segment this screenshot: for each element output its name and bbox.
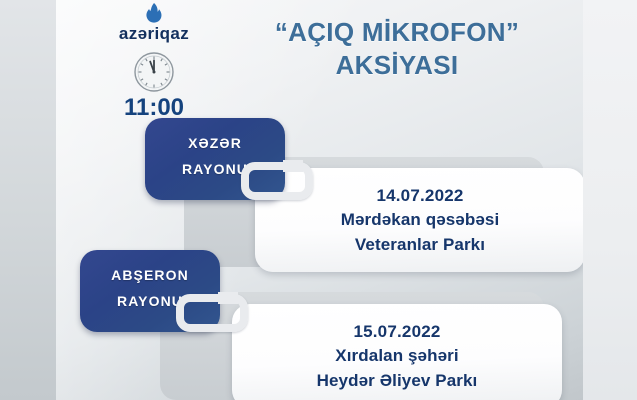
event-place-2-line-1: Xırdalan şəhəri xyxy=(335,344,458,369)
poster-stage: azəriqaz xyxy=(56,0,583,400)
page-title-line-1: “AÇIQ MİKROFON” xyxy=(275,17,519,47)
letterbox-left xyxy=(0,0,56,400)
brand-name: azəriqaz xyxy=(84,25,224,42)
page-title-line-2: AKSİYASI xyxy=(221,49,573,82)
event-date-2: 15.07.2022 xyxy=(353,319,440,345)
page-title: “AÇIQ MİKROFON” AKSİYASI xyxy=(221,16,573,83)
brand-block: azəriqaz xyxy=(84,2,224,120)
flame-icon xyxy=(143,2,165,26)
event-place-2-line-2: Heydər Əliyev Parkı xyxy=(317,369,478,394)
poster-image: azəriqaz xyxy=(0,0,637,400)
event-time: 11:00 xyxy=(84,96,224,120)
clock-icon xyxy=(133,51,175,93)
event-date-1: 14.07.2022 xyxy=(376,183,463,209)
district-badge-2-line-1: ABŞERON xyxy=(80,268,220,282)
connector-mask-2 xyxy=(218,292,238,304)
connector-mask-1 xyxy=(283,160,303,172)
event-card-2: 15.07.2022 Xırdalan şəhəri Heydər Əliyev… xyxy=(232,304,562,400)
event-place-1-line-2: Veteranlar Parkı xyxy=(355,233,485,258)
letterbox-right xyxy=(583,0,637,400)
district-badge-1-line-1: XƏZƏR xyxy=(145,136,285,150)
event-place-1-line-1: Mərdəkan qəsəbəsi xyxy=(341,208,500,233)
